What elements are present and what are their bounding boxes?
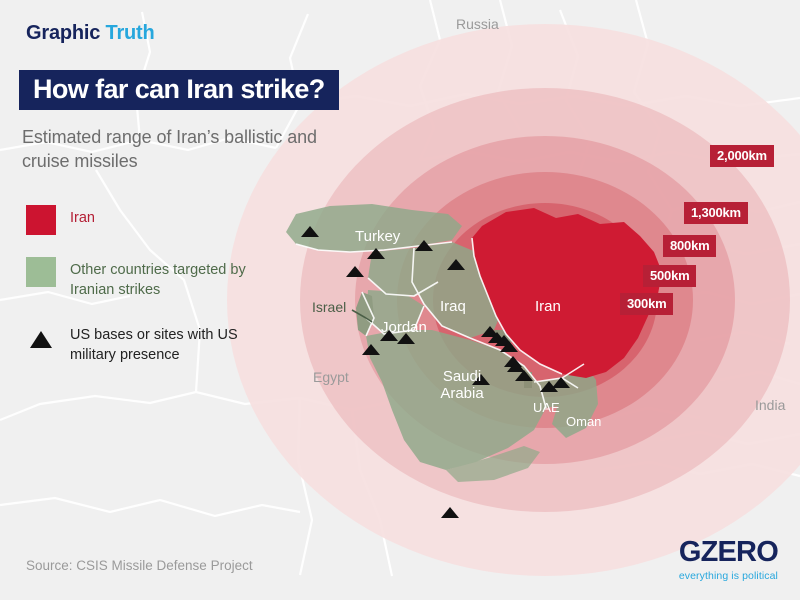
range-label-1300km: 1,300km <box>684 202 748 224</box>
range-label-300km: 300km <box>620 293 673 315</box>
source-note: Source: CSIS Missile Defense Project <box>26 558 253 573</box>
gzero-tagline: everything is political <box>679 570 778 582</box>
range-label-2000km: 2,000km <box>710 145 774 167</box>
gzero-logo: GZERO everything is political <box>679 538 778 582</box>
israel-leader-line <box>0 0 800 600</box>
range-label-500km: 500km <box>643 265 696 287</box>
range-label-800km: 800km <box>663 235 716 257</box>
gzero-wordmark: GZERO <box>679 538 778 567</box>
infographic-canvas: Graphic Truth How far can Iran strike? E… <box>0 0 800 600</box>
